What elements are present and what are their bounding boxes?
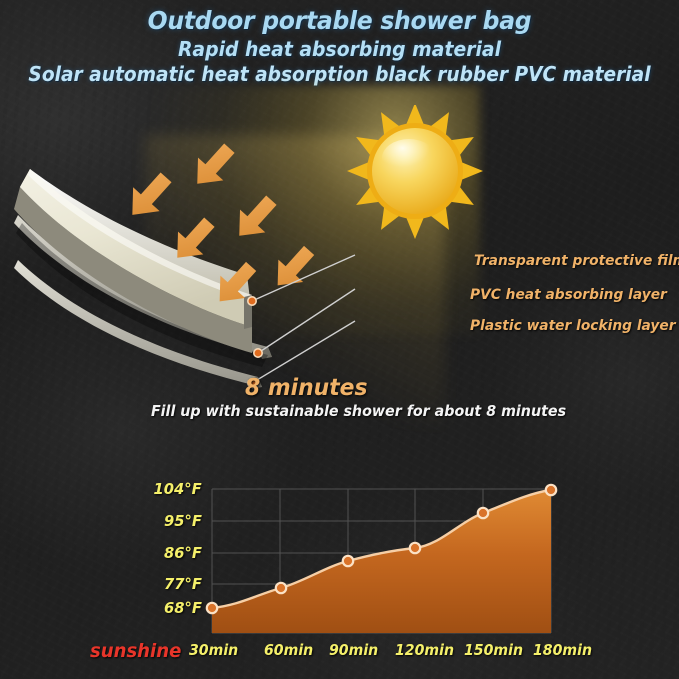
layer-label-pvc-heat: PVC heat absorbing layer bbox=[470, 287, 667, 303]
x-tick-30min: 30min bbox=[189, 641, 238, 659]
y-tick-104: 104°F bbox=[154, 480, 202, 498]
chart-area-fill bbox=[212, 490, 551, 633]
duration-block: 8 minutes Fill up with sustainable showe… bbox=[0, 375, 679, 420]
y-tick-86: 86°F bbox=[164, 544, 202, 562]
page-title: Outdoor portable shower bag bbox=[20, 6, 658, 35]
subtitle-primary: Rapid heat absorbing material bbox=[20, 37, 658, 61]
duration-caption: Fill up with sustainable shower for abou… bbox=[17, 402, 662, 420]
sun-icon bbox=[347, 105, 483, 239]
heading-block: Outdoor portable shower bag Rapid heat a… bbox=[0, 6, 679, 86]
product-infographic: Outdoor portable shower bag Rapid heat a… bbox=[0, 0, 679, 679]
subtitle-secondary: Solar automatic heat absorption black ru… bbox=[24, 62, 655, 86]
chart-x-axis-title: sunshine bbox=[90, 640, 181, 662]
x-tick-180min: 180min bbox=[533, 641, 592, 659]
layer-label-transparent-film: Transparent protective film bbox=[474, 253, 679, 269]
material-illustration: Transparent protective film PVC heat abs… bbox=[0, 105, 679, 415]
x-tick-90min: 90min bbox=[329, 641, 378, 659]
x-tick-150min: 150min bbox=[464, 641, 523, 659]
y-tick-77: 77°F bbox=[164, 575, 202, 593]
x-tick-120min: 120min bbox=[395, 641, 454, 659]
chart-y-axis: 104°F 95°F 86°F 77°F 68°F bbox=[86, 455, 202, 635]
x-tick-60min: 60min bbox=[264, 641, 313, 659]
layer-label-plastic-water: Plastic water locking layer bbox=[470, 318, 676, 334]
y-tick-95: 95°F bbox=[164, 512, 202, 530]
y-tick-68: 68°F bbox=[164, 599, 202, 617]
leader-line-group bbox=[248, 255, 355, 387]
duration-headline: 8 minutes bbox=[17, 375, 662, 401]
